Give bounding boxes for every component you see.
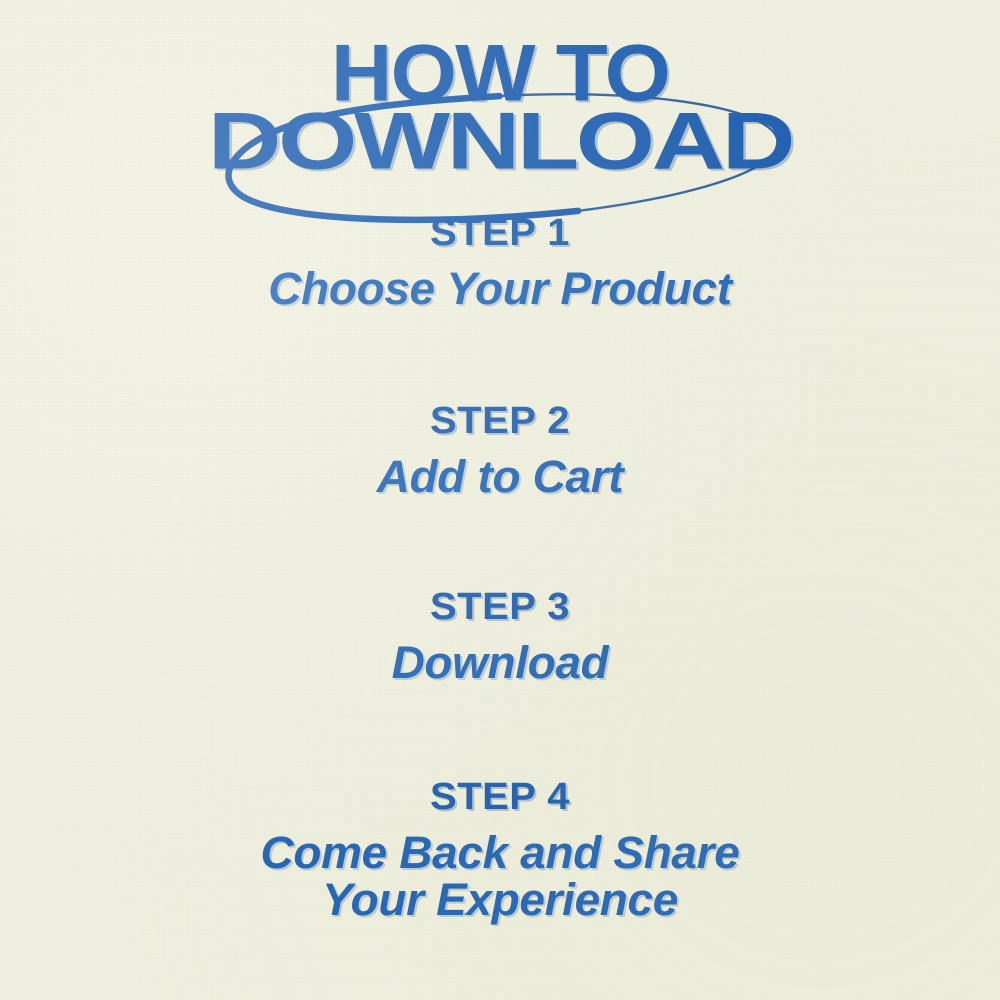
step-item-2: STEP 2 Add to Cart (0, 402, 1000, 501)
step-4-description: Come Back and Share Your Experience (0, 830, 1000, 924)
step-1-description: Choose Your Product (0, 266, 1000, 313)
poster-canvas: HOW TO DOWNLOAD STEP 1 Choose Your Produ… (0, 0, 1000, 1000)
step-item-3: STEP 3 Download (0, 588, 1000, 687)
title-block: HOW TO DOWNLOAD (0, 24, 1000, 204)
step-item-1: STEP 1 Choose Your Product (0, 214, 1000, 313)
step-2-label: STEP 2 (0, 402, 1000, 440)
step-2-description: Add to Cart (0, 454, 1000, 501)
orbit-ellipse-front-icon (0, 24, 1000, 204)
step-4-label: STEP 4 (0, 778, 1000, 816)
step-3-label: STEP 3 (0, 588, 1000, 626)
step-3-description: Download (0, 640, 1000, 687)
step-item-4: STEP 4 Come Back and Share Your Experien… (0, 778, 1000, 924)
